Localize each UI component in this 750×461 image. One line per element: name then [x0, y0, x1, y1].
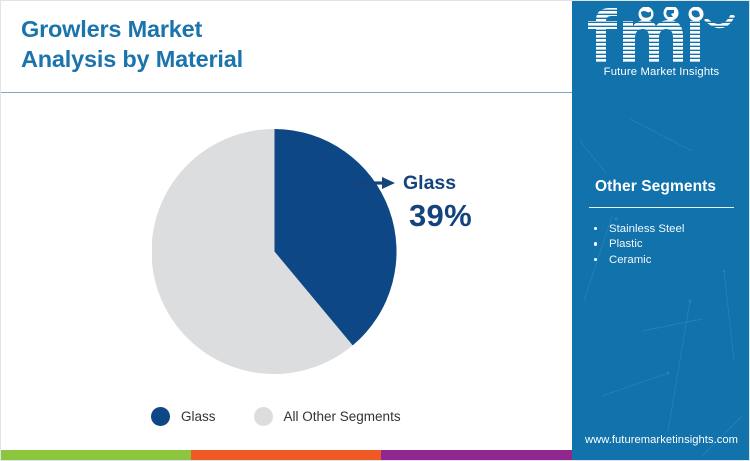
website-url[interactable]: www.futuremarketinsights.com	[572, 434, 750, 446]
other-segments-heading: Other Segments	[595, 178, 716, 196]
brand-panel: Future Market Insights Other Segments St…	[572, 1, 750, 461]
swoosh-icon	[701, 7, 738, 37]
legend-item-glass[interactable]: Glass	[151, 407, 216, 426]
list-item: Stainless Steel	[590, 222, 684, 237]
legend-swatch-all-other-segments	[254, 407, 273, 426]
chart-pane: Growlers Market Analysis by Material Gla…	[1, 1, 572, 450]
bottom-color-bar	[1, 450, 572, 461]
globe-europe-icon	[663, 7, 678, 21]
page-title: Growlers Market Analysis by Material	[21, 14, 421, 74]
page-title-line-2: Analysis by Material	[21, 46, 243, 72]
other-segment-label: Plastic	[609, 238, 643, 250]
infographic-canvas: Growlers Market Analysis by Material Gla…	[0, 0, 750, 461]
callout-glass: Glass 39%	[353, 166, 533, 256]
title-divider	[1, 92, 572, 93]
arrow-right-icon	[353, 176, 397, 190]
callout-label: Glass	[403, 172, 456, 195]
fmi-logo[interactable]: Future Market Insights	[572, 7, 750, 78]
globe-asia-icon	[688, 7, 703, 22]
other-segment-label: Stainless Steel	[609, 223, 684, 235]
callout-value: 39%	[409, 198, 472, 234]
legend-label-all-other-segments: All Other Segments	[284, 409, 401, 424]
legend-swatch-glass	[151, 407, 170, 426]
list-item: Ceramic	[590, 253, 684, 268]
bullet-icon	[594, 242, 597, 245]
bullet-icon	[594, 227, 597, 230]
fmi-logo-tagline: Future Market Insights	[572, 66, 750, 78]
list-item: Plastic	[590, 237, 684, 252]
other-segments-divider	[589, 207, 734, 208]
color-bar-segment-orange	[191, 450, 381, 461]
fmi-wordmark-f	[586, 7, 621, 65]
chart-legend: Glass All Other Segments	[151, 407, 439, 426]
other-segments-list: Stainless Steel Plastic Ceramic	[590, 222, 684, 268]
color-bar-segment-green	[1, 450, 191, 461]
legend-item-all-other-segments[interactable]: All Other Segments	[254, 407, 401, 426]
color-bar-segment-purple	[381, 450, 572, 461]
page-title-line-1: Growlers Market	[21, 16, 202, 42]
legend-label-glass: Glass	[181, 409, 216, 424]
fmi-logo-mark	[586, 7, 738, 65]
bullet-icon	[594, 258, 597, 261]
other-segment-label: Ceramic	[609, 254, 651, 266]
globe-americas-icon	[638, 7, 653, 22]
